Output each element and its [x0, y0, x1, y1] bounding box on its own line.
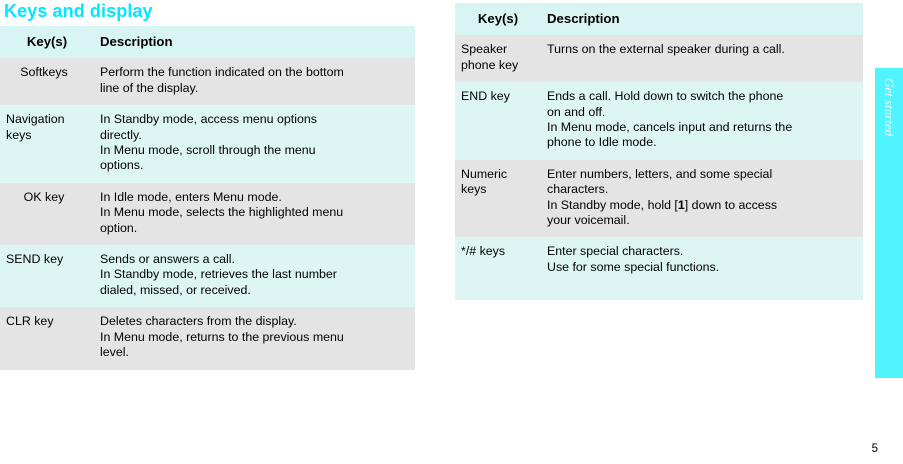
description-line: line of the display.	[100, 81, 409, 96]
description-line: In Standby mode, retrieves the last numb…	[100, 267, 409, 282]
key-cell: OK key	[0, 183, 94, 245]
description-line: In Idle mode, enters Menu mode.	[100, 190, 409, 205]
description-cell: Enter special characters. Use for some s…	[541, 237, 863, 299]
keys-table-left: Key(s) Description Softkeys Perform the …	[0, 26, 415, 370]
description-line: In Menu mode, selects the highlighted me…	[100, 205, 409, 220]
table-left-body: Softkeys Perform the function indicated …	[0, 58, 415, 369]
description-line: dialed, missed, or received.	[100, 283, 409, 298]
key-cell: Softkeys	[0, 58, 94, 105]
description-cell: Deletes characters from the display. In …	[94, 307, 415, 369]
description-line-prefix: In Standby mode, hold [	[547, 198, 678, 212]
column-header-keys: Key(s)	[455, 3, 541, 35]
description-cell: In Idle mode, enters Menu mode. In Menu …	[94, 183, 415, 245]
table-row: Navigation keys In Standby mode, access …	[0, 105, 415, 183]
description-cell: Enter numbers, letters, and some special…	[541, 160, 863, 238]
section-tab-get-started[interactable]: Get started	[875, 68, 903, 378]
description-line: your voicemail.	[547, 213, 857, 228]
description-cell: Ends a call. Hold down to switch the pho…	[541, 82, 863, 160]
description-line	[547, 275, 857, 290]
table-row: Speaker phone key Turns on the external …	[455, 35, 863, 82]
table-left-head: Key(s) Description	[0, 26, 415, 58]
column-header-description: Description	[94, 26, 415, 58]
table-row: CLR key Deletes characters from the disp…	[0, 307, 415, 369]
description-line: In Menu mode, returns to the previous me…	[100, 330, 409, 345]
key-cell: SEND key	[0, 245, 94, 307]
inline-key-badge: 1	[678, 198, 685, 212]
description-cell: In Standby mode, access menu options dir…	[94, 105, 415, 183]
table-row: */# keys Enter special characters. Use f…	[455, 237, 863, 299]
table-row: Softkeys Perform the function indicated …	[0, 58, 415, 105]
table-row: OK key In Idle mode, enters Menu mode. I…	[0, 183, 415, 245]
key-cell: Numeric keys	[455, 160, 541, 238]
description-line: Turns on the external speaker during a c…	[547, 42, 857, 57]
page-title: Keys and display	[4, 0, 153, 22]
key-cell: END key	[455, 82, 541, 160]
key-cell: */# keys	[455, 237, 541, 299]
description-line: on and off.	[547, 105, 857, 120]
table-right-header-row: Key(s) Description	[455, 3, 863, 35]
description-cell: Turns on the external speaker during a c…	[541, 35, 863, 82]
description-line: options.	[100, 158, 409, 173]
table-right-head: Key(s) Description	[455, 3, 863, 35]
column-header-keys: Key(s)	[0, 26, 94, 58]
description-line: In Menu mode, cancels input and returns …	[547, 120, 857, 135]
page-number: 5	[0, 443, 878, 455]
description-line: Use for some special functions.	[547, 260, 857, 275]
description-line-suffix: ] down to access	[685, 198, 777, 212]
description-cell: Sends or answers a call. In Standby mode…	[94, 245, 415, 307]
key-cell: CLR key	[0, 307, 94, 369]
description-line: directly.	[100, 128, 409, 143]
description-line: Enter special characters.	[547, 244, 857, 259]
column-header-description: Description	[541, 3, 863, 35]
keys-table-right: Key(s) Description Speaker phone key Tur…	[455, 3, 863, 300]
key-cell: Speaker phone key	[455, 35, 541, 82]
description-line: In Standby mode, access menu options	[100, 112, 409, 127]
table-row: END key Ends a call. Hold down to switch…	[455, 82, 863, 160]
table-row: SEND key Sends or answers a call. In Sta…	[0, 245, 415, 307]
description-cell: Perform the function indicated on the bo…	[94, 58, 415, 105]
description-line-with-key: In Standby mode, hold [1] down to access	[547, 198, 857, 213]
table-right-body: Speaker phone key Turns on the external …	[455, 35, 863, 299]
table-row: Numeric keys Enter numbers, letters, and…	[455, 160, 863, 238]
description-line: Ends a call. Hold down to switch the pho…	[547, 89, 857, 104]
description-line: Sends or answers a call.	[100, 252, 409, 267]
description-line: Enter numbers, letters, and some special	[547, 167, 857, 182]
description-line: option.	[100, 221, 409, 236]
key-cell: Navigation keys	[0, 105, 94, 183]
section-tab-label: Get started	[875, 68, 903, 378]
description-line: level.	[100, 345, 409, 360]
description-line: In Menu mode, scroll through the menu	[100, 143, 409, 158]
description-line: Perform the function indicated on the bo…	[100, 65, 409, 80]
description-line: characters.	[547, 182, 857, 197]
table-left-header-row: Key(s) Description	[0, 26, 415, 58]
description-line: Deletes characters from the display.	[100, 314, 409, 329]
description-line: phone to Idle mode.	[547, 135, 857, 150]
